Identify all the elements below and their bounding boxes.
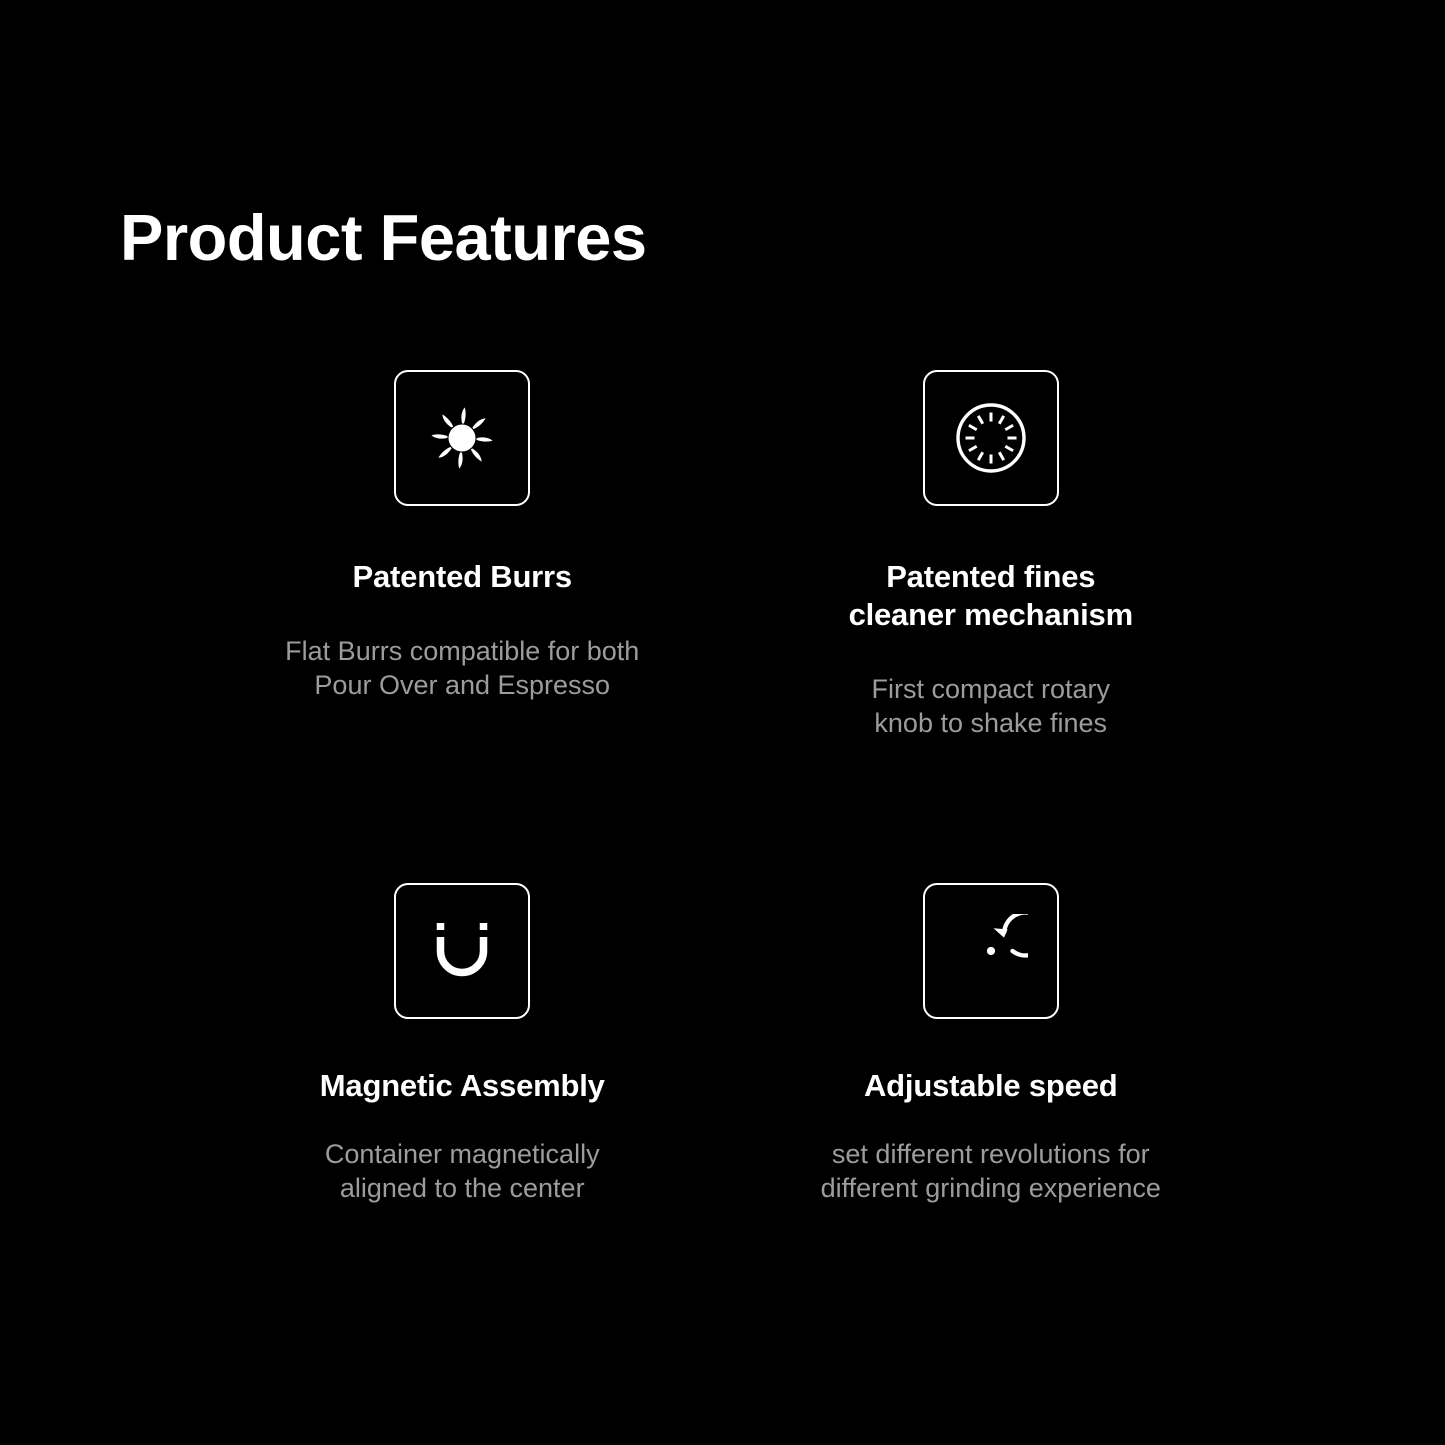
feature-description: First compact rotary knob to shake fines [871,672,1110,741]
horseshoe-magnet-icon [431,917,493,985]
icon-box [923,883,1059,1019]
feature-title: Adjustable speed [864,1067,1117,1105]
feature-card-fines-cleaner: Patented fines cleaner mechanism First c… [727,370,1256,741]
product-features-page: Product Features [0,0,1445,1445]
sun-burr-icon [426,402,498,474]
feature-title: Patented Burrs [353,558,572,596]
icon-box [394,883,530,1019]
feature-title: Patented fines cleaner mechanism [849,558,1133,634]
dial-knob-icon [952,399,1030,477]
feature-title: Magnetic Assembly [320,1067,605,1105]
icon-box [923,370,1059,506]
feature-card-magnetic-assembly: Magnetic Assembly Container magnetically… [198,883,727,1206]
feature-card-patented-burrs: Patented Burrs Flat Burrs compatible for… [198,370,727,741]
icon-box [394,370,530,506]
feature-description: Flat Burrs compatible for both Pour Over… [285,634,639,703]
rotation-arrow-icon [954,914,1028,988]
features-grid: Patented Burrs Flat Burrs compatible for… [198,370,1255,1206]
page-title: Product Features [120,202,647,274]
feature-description: Container magnetically aligned to the ce… [325,1137,600,1206]
feature-description: set different revolutions for different … [821,1137,1161,1206]
feature-card-adjustable-speed: Adjustable speed set different revolutio… [727,883,1256,1206]
